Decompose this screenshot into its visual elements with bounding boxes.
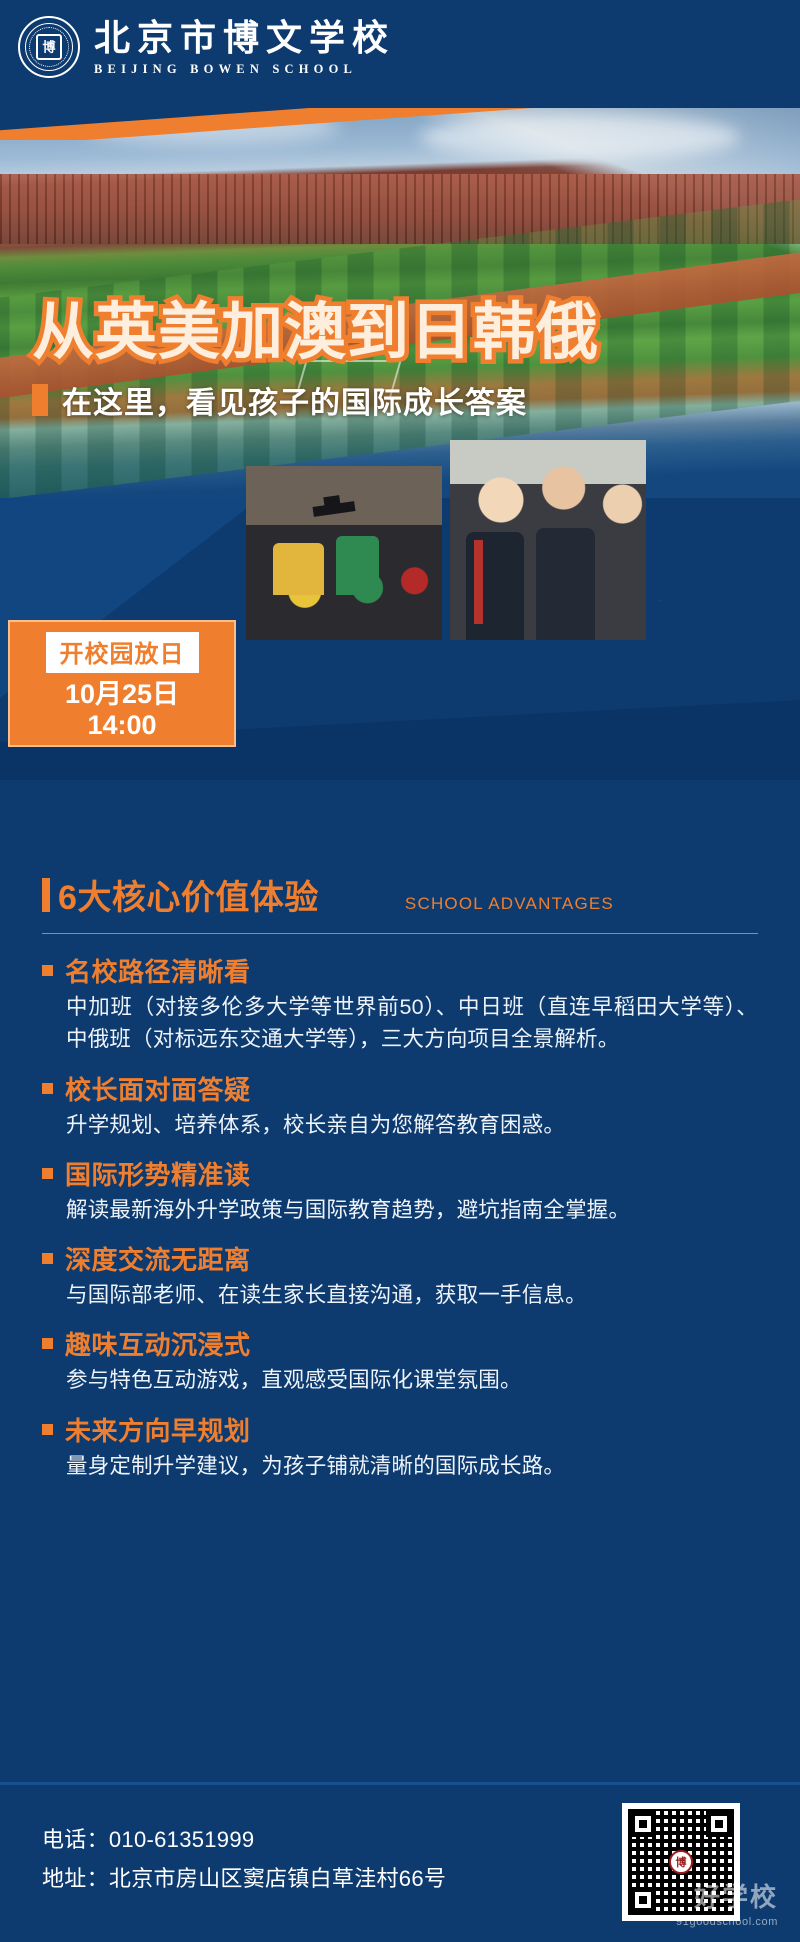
list-item: 趣味互动沉浸式 参与特色互动游戏，直观感受国际化课堂氛围。: [42, 1325, 758, 1396]
school-seal-icon: 博: [18, 16, 80, 78]
section-divider: [42, 933, 758, 934]
poster-headline: 从英美加澳到日韩俄: [32, 300, 800, 364]
advantages-section: 6大核心价值体验 SCHOOL ADVANTAGES 名校路径清晰看 中加班（对…: [0, 780, 800, 1496]
list-item-title: 未来方向早规划: [65, 1411, 251, 1448]
bullet-square-icon: [42, 965, 53, 976]
watermark-url: 91goodschool.com: [676, 1916, 778, 1928]
bullet-square-icon: [42, 1253, 53, 1264]
section-subtitle-en: SCHOOL ADVANTAGES: [405, 894, 614, 914]
list-item-title: 名校路径清晰看: [65, 952, 251, 989]
list-item: 国际形势精准读 解读最新海外升学政策与国际教育趋势，避坑指南全掌握。: [42, 1155, 758, 1226]
list-item-body: 升学规划、培养体系，校长亲自为您解答教育困惑。: [66, 1109, 758, 1141]
contact-phone: 电话：010-61351999: [42, 1821, 446, 1860]
watermark-name: 好学校: [676, 1877, 778, 1914]
list-item-head: 未来方向早规划: [42, 1411, 758, 1448]
advantages-list: 名校路径清晰看 中加班（对接多伦多大学等世界前50）、中日班（直连早稻田大学等）…: [42, 952, 758, 1482]
poster-header: 博 北京市博文学校 BEIJING BOWEN SCHOOL: [0, 0, 800, 108]
cloud-shape: [420, 114, 740, 160]
list-item: 未来方向早规划 量身定制升学建议，为孩子铺就清晰的国际成长路。: [42, 1411, 758, 1482]
gold-sash: [579, 536, 588, 624]
qr-finder-top-right: [706, 1811, 732, 1837]
list-item: 深度交流无距离 与国际部老师、在读生家长直接沟通，获取一手信息。: [42, 1240, 758, 1311]
cloud-shape-2: [80, 108, 340, 144]
qr-finder-top-left: [630, 1811, 656, 1837]
subheadline-tick: [32, 384, 48, 416]
qr-finder-bottom-left: [630, 1887, 656, 1913]
poster-subheadline-row: 在这里，看见孩子的国际成长答案: [32, 378, 800, 422]
list-item-body: 量身定制升学建议，为孩子铺就清晰的国际成长路。: [66, 1450, 758, 1482]
open-day-date: 10月25日: [65, 679, 179, 710]
list-item: 校长面对面答疑 升学规划、培养体系，校长亲自为您解答教育困惑。: [42, 1070, 758, 1141]
red-sash: [474, 540, 483, 624]
open-day-tag: 开校园放日: [46, 632, 199, 673]
contact-address: 地址：北京市房山区窦店镇白草洼村66号: [42, 1860, 446, 1899]
list-item-title: 深度交流无距离: [65, 1240, 251, 1277]
open-day-time: 14:00: [87, 710, 156, 741]
list-item-body: 中加班（对接多伦多大学等世界前50）、中日班（直连早稻田大学等）、中俄班（对标远…: [66, 991, 758, 1056]
poster-footer: 电话：010-61351999 地址：北京市房山区窦店镇白草洼村66号 博 好学…: [0, 1782, 800, 1942]
section-title: 6大核心价值体验: [58, 870, 319, 919]
section-accent-bar: [42, 878, 50, 912]
open-day-box[interactable]: 开校园放日 10月25日 14:00: [8, 620, 236, 747]
bullet-square-icon: [42, 1424, 53, 1435]
list-item-head: 校长面对面答疑: [42, 1070, 758, 1107]
graduation-cap-icon: [312, 501, 355, 517]
list-item-body: 解读最新海外升学政策与国际教育趋势，避坑指南全掌握。: [66, 1194, 758, 1226]
qr-center-logo-icon: 博: [669, 1850, 693, 1874]
list-item-head: 深度交流无距离: [42, 1240, 758, 1277]
section-header: 6大核心价值体验 SCHOOL ADVANTAGES: [0, 780, 800, 919]
list-item-head: 名校路径清晰看: [42, 952, 758, 989]
graduation-photo: [246, 466, 442, 640]
school-name-block: 北京市博文学校 BEIJING BOWEN SCHOOL: [94, 16, 395, 77]
watermark: 好学校 91goodschool.com: [676, 1877, 778, 1928]
contact-block: 电话：010-61351999 地址：北京市房山区窦店镇白草洼村66号: [42, 1821, 446, 1898]
list-item-head: 国际形势精准读: [42, 1155, 758, 1192]
school-logo-block: 博 北京市博文学校 BEIJING BOWEN SCHOOL: [18, 16, 395, 78]
list-item-body: 与国际部老师、在读生家长直接沟通，获取一手信息。: [66, 1279, 758, 1311]
list-item-title: 校长面对面答疑: [65, 1070, 251, 1107]
bullet-square-icon: [42, 1338, 53, 1349]
poster-subheadline: 在这里，看见孩子的国际成长答案: [62, 378, 527, 422]
bullet-square-icon: [42, 1168, 53, 1179]
school-name-cn: 北京市博文学校: [94, 18, 395, 58]
list-item-head: 趣味互动沉浸式: [42, 1325, 758, 1362]
headline-zone: 从英美加澳到日韩俄 在这里，看见孩子的国际成长答案: [0, 300, 800, 422]
list-item-title: 国际形势精准读: [65, 1155, 251, 1192]
international-graduates-photo: [450, 440, 646, 640]
school-name-en: BEIJING BOWEN SCHOOL: [94, 62, 395, 77]
list-item: 名校路径清晰看 中加班（对接多伦多大学等世界前50）、中日班（直连早稻田大学等）…: [42, 952, 758, 1056]
seal-character: 博: [20, 41, 78, 54]
list-item-title: 趣味互动沉浸式: [65, 1325, 251, 1362]
bullet-square-icon: [42, 1083, 53, 1094]
list-item-body: 参与特色互动游戏，直观感受国际化课堂氛围。: [66, 1364, 758, 1396]
